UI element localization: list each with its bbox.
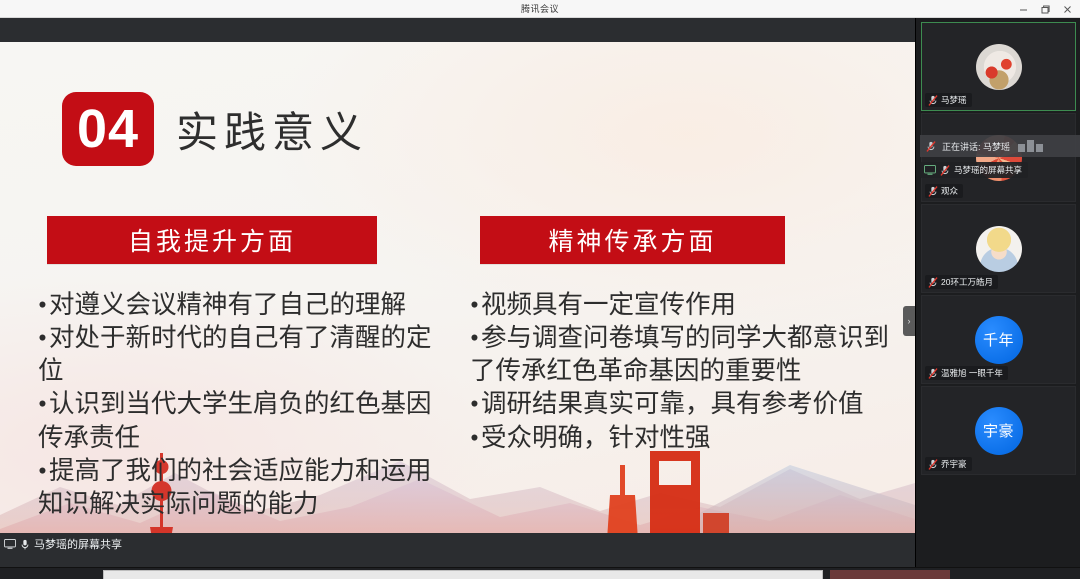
mic-muted-icon xyxy=(926,141,936,152)
bullet-item: 对遵义会议精神有了自己的理解 xyxy=(38,288,453,321)
avatar xyxy=(976,226,1022,272)
bullet-column-right: 视频具有一定宣传作用 参与调查问卷填写的同学大都意识到了传承红色革命基因的重要性… xyxy=(470,288,895,454)
screen-share-chip: 马梦瑶的屏幕共享 xyxy=(920,162,1028,178)
participant-name: 温雅旭 一眼千年 xyxy=(941,367,1003,379)
participant-tile[interactable]: 宇豪 乔宇豪 xyxy=(921,386,1076,475)
avatar: 千年 xyxy=(975,316,1023,364)
mic-muted-icon xyxy=(928,186,938,197)
section-title: 实践意义 xyxy=(176,99,368,160)
mic-muted-icon xyxy=(928,368,938,379)
column-header-right: 精神传承方面 xyxy=(480,216,785,264)
participant-name-chip: 马梦瑶 xyxy=(925,93,972,107)
participant-tile[interactable]: 观众 xyxy=(921,113,1076,202)
participant-name-chip: 20环工万皓月 xyxy=(925,275,998,289)
mic-muted-icon xyxy=(928,277,938,288)
participant-tile[interactable]: 马梦瑶 xyxy=(921,22,1076,111)
mic-muted-icon xyxy=(928,95,938,106)
participant-tile[interactable]: 20环工万皓月 xyxy=(921,204,1076,293)
screen-share-icon xyxy=(924,165,936,175)
column-header-left: 自我提升方面 xyxy=(47,216,377,264)
avatar: 宇豪 xyxy=(975,407,1023,455)
bullet-item: 参与调查问卷填写的同学大都意识到了传承红色革命基因的重要性 xyxy=(470,321,895,387)
window-controls xyxy=(1012,0,1078,18)
mic-muted-icon xyxy=(928,459,938,470)
participant-name: 20环工万皓月 xyxy=(941,276,993,288)
taskbar-window-strip[interactable] xyxy=(103,570,823,579)
bullet-item: 受众明确，针对性强 xyxy=(470,421,895,454)
bullet-item: 提高了我们的社会适应能力和运用知识解决实际问题的能力 xyxy=(38,454,453,520)
active-speaker-label: 正在讲话: 马梦瑶 xyxy=(942,140,1010,153)
sidebar-collapse-handle[interactable]: › xyxy=(903,306,915,336)
participant-name-chip: 温雅旭 一眼千年 xyxy=(925,366,1008,380)
close-button[interactable] xyxy=(1056,0,1078,18)
participant-name: 乔宇豪 xyxy=(941,458,967,470)
presentation-slide: 04 实践意义 自我提升方面 精神传承方面 对遵义会议精神有了自己的理解 对处于… xyxy=(0,42,915,555)
meeting-body: 04 实践意义 自我提升方面 精神传承方面 对遵义会议精神有了自己的理解 对处于… xyxy=(0,18,1080,579)
screen-share-icon xyxy=(4,539,16,549)
restore-button[interactable] xyxy=(1034,0,1056,18)
participant-name-chip: 观众 xyxy=(925,184,963,198)
bullet-item: 调研结果真实可靠，具有参考价值 xyxy=(470,387,895,420)
minimize-button[interactable] xyxy=(1012,0,1034,18)
shared-screen-region[interactable]: 04 实践意义 自我提升方面 精神传承方面 对遵义会议精神有了自己的理解 对处于… xyxy=(0,18,915,567)
os-taskbar xyxy=(0,567,1080,579)
tencent-meeting-window: 腾讯会议 xyxy=(0,0,1080,579)
bullet-item: 对处于新时代的自己有了清醒的定位 xyxy=(38,321,453,387)
bullet-column-left: 对遵义会议精神有了自己的理解 对处于新时代的自己有了清醒的定位 认识到当代大学生… xyxy=(38,288,453,520)
bullet-item: 视频具有一定宣传作用 xyxy=(470,288,895,321)
participants-sidebar: 马梦瑶 观众 xyxy=(915,18,1080,579)
participant-name-chip: 乔宇豪 xyxy=(925,457,972,471)
microphone-icon xyxy=(20,539,30,550)
participant-name: 马梦瑶 xyxy=(941,94,967,106)
avatar xyxy=(976,44,1022,90)
participant-tile[interactable]: 千年 温雅旭 一眼千年 xyxy=(921,295,1076,384)
mic-muted-icon xyxy=(940,165,950,176)
share-status-bar: 马梦瑶的屏幕共享 xyxy=(0,533,915,555)
window-title: 腾讯会议 xyxy=(521,2,559,15)
audio-wave-icon xyxy=(1018,140,1043,152)
bullet-item: 认识到当代大学生肩负的红色基因传承责任 xyxy=(38,387,453,453)
screen-share-label: 马梦瑶的屏幕共享 xyxy=(954,164,1022,176)
title-bar: 腾讯会议 xyxy=(0,0,1080,18)
taskbar-accent-strip xyxy=(830,570,950,579)
slide-title-row: 04 实践意义 xyxy=(62,92,368,166)
section-number-badge: 04 xyxy=(62,92,154,166)
active-speaker-tooltip: 正在讲话: 马梦瑶 xyxy=(920,135,1080,157)
share-status-label: 马梦瑶的屏幕共享 xyxy=(34,536,122,552)
participant-name: 观众 xyxy=(941,185,958,197)
